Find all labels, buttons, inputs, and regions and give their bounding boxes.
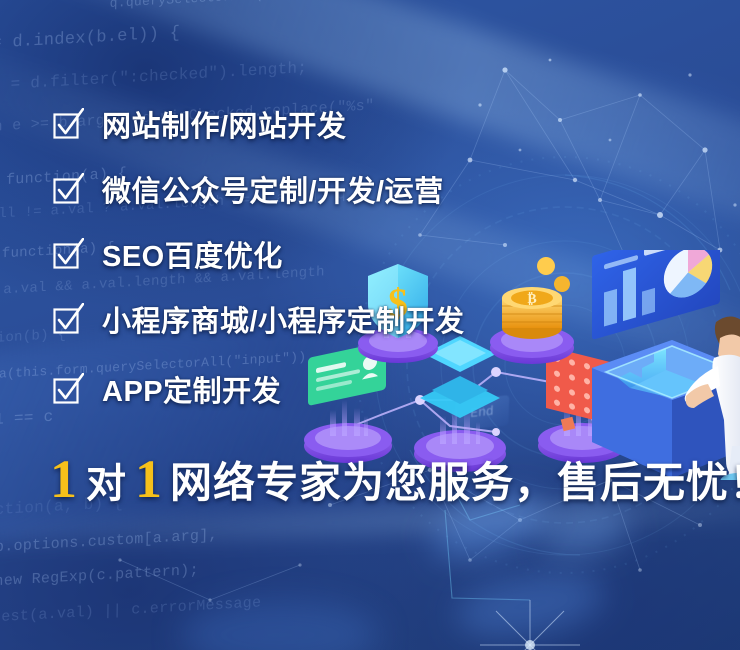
checkbox-checked-icon[interactable] <box>52 373 84 405</box>
headline-number-first: 1 <box>50 452 77 506</box>
checkbox-checked-icon[interactable] <box>52 173 84 205</box>
list-item-label: APP定制开发 <box>102 368 281 410</box>
list-item[interactable]: 小程序商城/小程序定制开发 <box>52 293 465 345</box>
dashboard-screen <box>592 250 720 340</box>
headline-main-text: 网络专家为您服务，售后无忧！ <box>162 462 740 504</box>
list-item-label: SEO百度优化 <box>102 233 283 275</box>
headline: 1 对 1 网络专家为您服务，售后无忧！ <box>50 452 740 506</box>
gold-coins-stack-icon: ₿ <box>490 254 574 364</box>
list-item[interactable]: 网站制作/网站开发 <box>52 98 465 150</box>
headline-number-second: 1 <box>135 452 162 506</box>
list-item-label: 微信公众号定制/开发/运营 <box>102 168 444 210</box>
promo-banner: End q.querySelectorAll("input[type=check… <box>0 0 740 650</box>
checkbox-checked-icon[interactable] <box>52 238 84 270</box>
list-item-label: 网站制作/网站开发 <box>102 103 347 145</box>
list-item-label: 小程序商城/小程序定制开发 <box>102 298 465 340</box>
svg-text:₿: ₿ <box>527 291 536 307</box>
star-sparkle-icon <box>470 590 590 650</box>
service-list: 网站制作/网站开发 微信公众号定制/开发/运营 SEO百度优化 <box>52 98 465 428</box>
headline-separator: 对 <box>77 464 135 504</box>
list-item[interactable]: 微信公众号定制/开发/运营 <box>52 163 465 215</box>
list-item[interactable]: APP定制开发 <box>52 363 465 415</box>
list-item[interactable]: SEO百度优化 <box>52 228 465 280</box>
checkbox-checked-icon[interactable] <box>52 303 84 335</box>
checkbox-checked-icon[interactable] <box>52 108 84 140</box>
